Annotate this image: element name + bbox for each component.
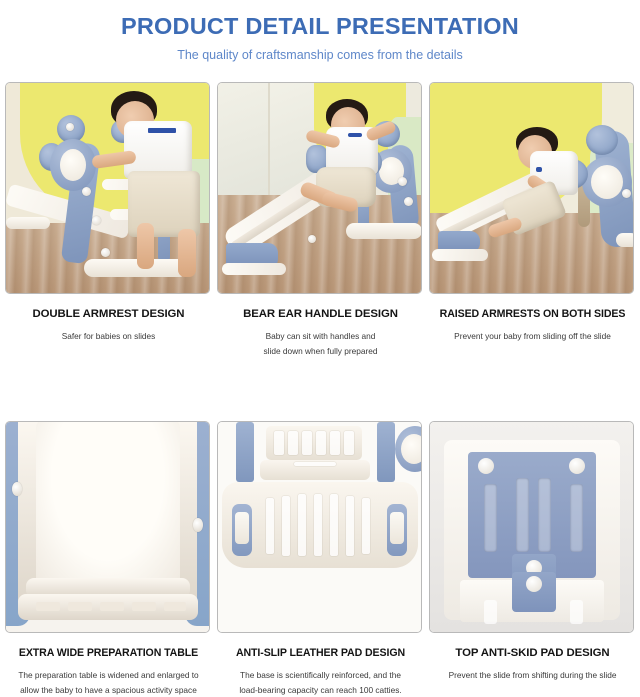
screw-cap-bottom bbox=[101, 248, 110, 257]
feature-title: EXTRA WIDE PREPARATION TABLE bbox=[5, 647, 212, 659]
feature-card-raised-armrests: RAISED ARMRESTS ON BOTH SIDES Prevent yo… bbox=[429, 82, 636, 358]
feature-body: The preparation table is widened and enl… bbox=[5, 668, 212, 697]
base-rib-7 bbox=[362, 498, 370, 554]
feature-card-double-armrest: DOUBLE ARMREST DESIGN Safer for babies o… bbox=[5, 82, 212, 358]
feature-row-2: EXTRA WIDE PREPARATION TABLE The prepara… bbox=[5, 421, 636, 697]
screw-cap-top-left bbox=[478, 458, 494, 474]
base-rib-5 bbox=[330, 494, 338, 556]
screw-cap-mid bbox=[398, 177, 407, 186]
product-photo-anti-slip-leather-pad bbox=[217, 421, 422, 633]
screw-cap-side bbox=[622, 189, 631, 198]
upper-tread-4 bbox=[316, 431, 326, 455]
frame-leg-right bbox=[377, 422, 395, 482]
page-subtitle: The quality of craftsmanship comes from … bbox=[0, 48, 640, 62]
feature-title: BEAR EAR HANDLE DESIGN bbox=[217, 308, 424, 320]
child-shirt-logo bbox=[148, 128, 176, 133]
feature-card-anti-slip-leather-pad: ANTI-SLIP LEATHER PAD DESIGN The base is… bbox=[217, 421, 424, 697]
tread-notch-4 bbox=[132, 602, 156, 611]
pad-rib-4 bbox=[570, 484, 583, 552]
base-rib-3 bbox=[298, 494, 306, 556]
feature-row-1: DOUBLE ARMREST DESIGN Safer for babies o… bbox=[5, 82, 636, 358]
child-shirt-logo bbox=[536, 167, 542, 172]
lower-slot-1 bbox=[484, 600, 497, 624]
slide-front-foot bbox=[6, 217, 50, 229]
feature-body: Safer for babies on slides bbox=[5, 329, 212, 344]
screw-cap-top-right bbox=[569, 458, 585, 474]
screw-cap-low bbox=[92, 216, 101, 225]
pad-rib-2 bbox=[516, 478, 529, 552]
scene-child-climbing bbox=[6, 83, 209, 293]
feature-body: The base is scientifically reinforced, a… bbox=[217, 668, 424, 697]
screw-cap-low bbox=[404, 197, 413, 206]
screw-cap-mid bbox=[82, 187, 91, 196]
feature-title: ANTI-SLIP LEATHER PAD DESIGN bbox=[217, 647, 424, 659]
pad-rib-1 bbox=[484, 484, 497, 552]
screw-cap-right bbox=[193, 518, 203, 532]
upper-tread-5 bbox=[330, 431, 340, 455]
bear-ear-corner-inner bbox=[401, 434, 422, 464]
pad-rib-3 bbox=[538, 478, 551, 552]
anti-slip-pad-left-insert bbox=[235, 512, 249, 544]
scene-top-anti-skid-pad bbox=[430, 422, 633, 632]
scene-child-sliding bbox=[218, 83, 421, 293]
slide-end-lip bbox=[222, 263, 286, 275]
upper-tread-6 bbox=[344, 431, 354, 455]
product-photo-bear-ear-handle bbox=[217, 82, 422, 294]
base-rib-6 bbox=[346, 496, 354, 556]
screw-cap-top bbox=[66, 123, 74, 131]
slide-end-lip bbox=[432, 249, 488, 261]
upper-tread-3 bbox=[302, 431, 312, 455]
upper-tread-2 bbox=[288, 431, 298, 455]
base-rib-4 bbox=[314, 494, 322, 556]
feature-card-extra-wide-table: EXTRA WIDE PREPARATION TABLE The prepara… bbox=[5, 421, 212, 697]
slide-base-foot bbox=[84, 259, 188, 277]
product-photo-raised-armrests bbox=[429, 82, 634, 294]
feature-card-top-anti-skid-pad: TOP ANTI-SKID PAD DESIGN Prevent the sli… bbox=[429, 421, 636, 697]
upper-tread-1 bbox=[274, 431, 284, 455]
screw-cap-left bbox=[12, 482, 22, 496]
page-title: PRODUCT DETAIL PRESENTATION bbox=[0, 14, 640, 40]
feature-body: Prevent the slide from shifting during t… bbox=[429, 668, 636, 683]
bear-face-ring-inner bbox=[60, 149, 86, 181]
tread-notch-1 bbox=[36, 602, 60, 611]
feature-grid: DOUBLE ARMREST DESIGN Safer for babies o… bbox=[5, 82, 636, 697]
scene-child-on-ramp bbox=[430, 83, 633, 293]
clip-cap-front bbox=[526, 576, 542, 592]
frame-leg-left bbox=[236, 422, 254, 482]
tread-notch-5 bbox=[164, 602, 186, 611]
window-pane-left bbox=[217, 82, 274, 203]
lower-slot-2 bbox=[570, 600, 583, 624]
feature-body: Prevent your baby from sliding off the s… bbox=[429, 329, 636, 344]
bear-face-ring-inner bbox=[591, 165, 623, 199]
mid-step-slot bbox=[294, 462, 336, 466]
feature-card-bear-ear-handle: BEAR EAR HANDLE DESIGN Baby can sit with… bbox=[217, 82, 424, 358]
slide-base-foot bbox=[346, 223, 422, 239]
tread-notch-3 bbox=[100, 602, 124, 611]
anti-slip-pad-right-insert bbox=[390, 512, 404, 544]
base-rib-1 bbox=[266, 498, 274, 554]
page-header: PRODUCT DETAIL PRESENTATION The quality … bbox=[0, 0, 640, 62]
screw-cap-ramp bbox=[308, 235, 316, 243]
feature-title: RAISED ARMRESTS ON BOTH SIDES bbox=[429, 308, 636, 320]
scene-preparation-table bbox=[6, 422, 209, 632]
slide-base-foot bbox=[616, 233, 634, 247]
feature-title: DOUBLE ARMREST DESIGN bbox=[5, 308, 212, 320]
child-leg-far bbox=[178, 229, 196, 277]
product-photo-double-armrest bbox=[5, 82, 210, 294]
child-shirt-logo bbox=[348, 133, 362, 137]
feature-body: Baby can sit with handles andslide down … bbox=[217, 329, 424, 358]
child-leg-near bbox=[137, 223, 154, 269]
scene-anti-slip-base bbox=[218, 422, 421, 632]
feature-title: TOP ANTI-SKID PAD DESIGN bbox=[429, 647, 636, 659]
base-rib-2 bbox=[282, 496, 290, 556]
product-photo-top-anti-skid-pad bbox=[429, 421, 634, 633]
tread-notch-2 bbox=[68, 602, 92, 611]
bear-ear-top bbox=[586, 125, 618, 155]
preparation-table-surface bbox=[36, 421, 180, 584]
product-photo-extra-wide-table bbox=[5, 421, 210, 633]
